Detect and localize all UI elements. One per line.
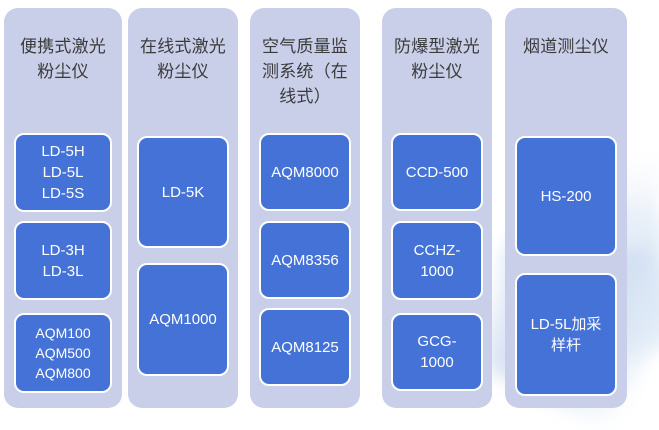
- product-category-board: 便携式激光 粉尘仪 LD-5H LD-5L LD-5S LD-3H LD-3L …: [0, 0, 659, 419]
- category-column-flue-dust-meter[interactable]: 烟道测尘仪 HS-200 LD-5L加采 样杆: [505, 8, 627, 408]
- category-title: 防爆型激光 粉尘仪: [388, 34, 486, 84]
- product-card[interactable]: GCG- 1000: [391, 313, 483, 391]
- category-column-online-laser-dust-meter[interactable]: 在线式激光 粉尘仪 LD-5K AQM1000: [128, 8, 238, 408]
- category-column-portable-laser-dust-meter[interactable]: 便携式激光 粉尘仪 LD-5H LD-5L LD-5S LD-3H LD-3L …: [4, 8, 122, 408]
- product-card[interactable]: LD-3H LD-3L: [14, 221, 112, 300]
- product-card[interactable]: AQM8356: [259, 221, 351, 299]
- category-column-explosion-proof-laser-dust-meter[interactable]: 防爆型激光 粉尘仪 CCD-500 CCHZ- 1000 GCG- 1000: [382, 8, 492, 408]
- product-card[interactable]: AQM1000: [137, 263, 229, 376]
- category-title: 便携式激光 粉尘仪: [10, 34, 116, 84]
- product-card[interactable]: HS-200: [515, 136, 617, 256]
- product-card[interactable]: CCD-500: [391, 133, 483, 211]
- category-title: 在线式激光 粉尘仪: [134, 34, 232, 84]
- product-card[interactable]: LD-5H LD-5L LD-5S: [14, 133, 112, 212]
- product-card[interactable]: LD-5K: [137, 136, 229, 248]
- product-card[interactable]: CCHZ- 1000: [391, 221, 483, 300]
- category-title: 空气质量监 测系统（在 线式）: [256, 34, 354, 109]
- product-card[interactable]: AQM100 AQM500 AQM800: [14, 313, 112, 393]
- product-card[interactable]: AQM8000: [259, 133, 351, 211]
- category-column-air-quality-monitoring-system[interactable]: 空气质量监 测系统（在 线式） AQM8000 AQM8356 AQM8125: [250, 8, 360, 408]
- category-title: 烟道测尘仪: [511, 34, 621, 59]
- product-card[interactable]: AQM8125: [259, 308, 351, 386]
- product-card[interactable]: LD-5L加采 样杆: [515, 273, 617, 396]
